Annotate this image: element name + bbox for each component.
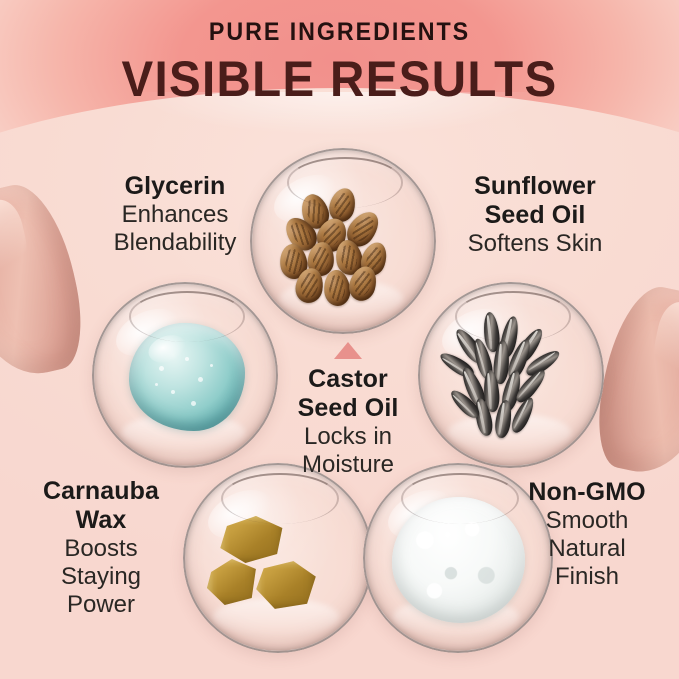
label-carnauba: Carnauba Wax Boosts Staying Power — [6, 477, 196, 618]
label-carnauba-benefit-3: Power — [6, 591, 196, 619]
label-nongmo-benefit-3: Finish — [498, 563, 676, 591]
carnauba-wax-chunks-icon — [183, 463, 373, 653]
label-carnauba-title-2: Wax — [6, 506, 196, 535]
label-nongmo-benefit-2: Natural — [498, 535, 676, 563]
ingredient-bubble-sunflower — [418, 282, 604, 468]
label-sunflower-benefit-1: Softens Skin — [430, 230, 640, 258]
label-glycerin-title: Glycerin — [70, 172, 280, 201]
ingredient-bubble-glycerin — [92, 282, 278, 468]
sunflower-seeds-icon — [418, 282, 604, 468]
label-sunflower-title-1: Sunflower — [430, 172, 640, 201]
header: PURE INGREDIENTS VISIBLE RESULTS — [0, 18, 679, 108]
label-nongmo-benefit-1: Smooth — [498, 507, 676, 535]
label-glycerin-benefit-2: Blendability — [70, 229, 280, 257]
label-castor-benefit-2: Moisture — [268, 451, 428, 479]
label-carnauba-title-1: Carnauba — [6, 477, 196, 506]
label-castor-benefit-1: Locks in — [268, 423, 428, 451]
label-sunflower: Sunflower Seed Oil Softens Skin — [430, 172, 640, 258]
castor-pointer-triangle-icon — [334, 342, 362, 359]
label-sunflower-title-2: Seed Oil — [430, 201, 640, 230]
glycerin-gel-icon — [92, 282, 278, 468]
label-glycerin-benefit-1: Enhances — [70, 201, 280, 229]
ingredients-infographic: PURE INGREDIENTS VISIBLE RESULTS — [0, 0, 679, 679]
label-nongmo: Non-GMO Smooth Natural Finish — [498, 478, 676, 590]
label-carnauba-benefit-1: Boosts — [6, 535, 196, 563]
label-glycerin: Glycerin Enhances Blendability — [70, 172, 280, 257]
label-castor-title-2: Seed Oil — [268, 394, 428, 423]
header-kicker: PURE INGREDIENTS — [24, 18, 655, 47]
label-castor: Castor Seed Oil Locks in Moisture — [268, 365, 428, 479]
label-castor-title-1: Castor — [268, 365, 428, 394]
label-carnauba-benefit-2: Staying — [6, 563, 196, 591]
ingredient-bubble-carnauba — [183, 463, 373, 653]
label-nongmo-title: Non-GMO — [498, 478, 676, 507]
header-headline: VISIBLE RESULTS — [17, 50, 662, 108]
